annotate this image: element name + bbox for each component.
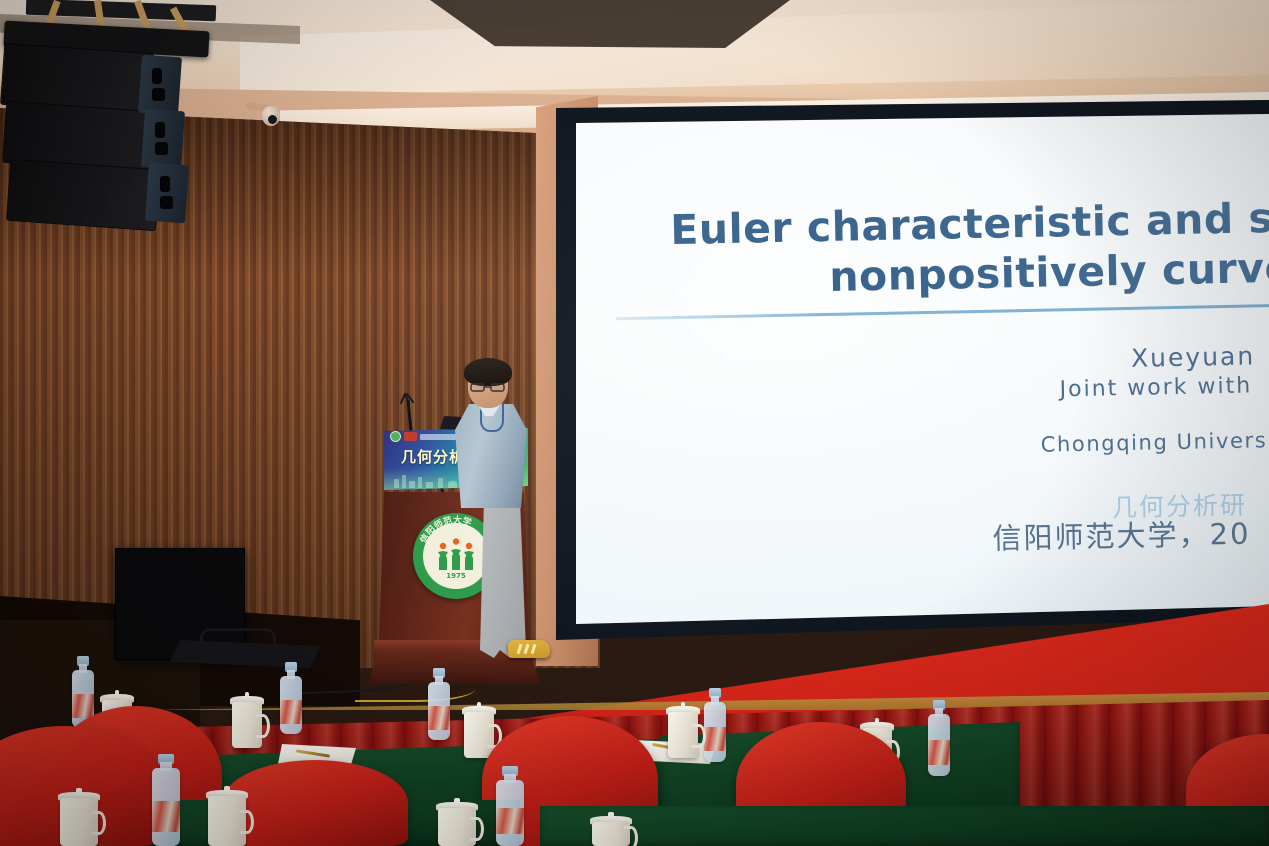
conference-hall-photo: Euler characteristic and sim nonpositive… xyxy=(0,0,1269,846)
speaker-port xyxy=(160,176,170,192)
slide-joint-work: Joint work with xyxy=(1059,373,1252,402)
water-bottle xyxy=(704,688,726,762)
emblem-figures-icon xyxy=(436,538,476,570)
slide-author: Xueyuan xyxy=(1131,341,1256,372)
table-row xyxy=(540,806,1269,846)
mug xyxy=(208,786,246,846)
line-array-cabinet-side xyxy=(138,55,182,116)
slide-place-date-cn: 信阳师范大学，20 xyxy=(992,511,1251,558)
projection-screen: Euler characteristic and sim nonpositive… xyxy=(576,114,1269,624)
water-bottle xyxy=(928,700,950,776)
university-logo-icon xyxy=(390,431,401,442)
mug xyxy=(464,702,494,758)
glasses-icon xyxy=(468,379,508,388)
slide-title-line2: nonpositively curve xyxy=(829,244,1269,301)
anniversary-logo-icon xyxy=(404,432,417,441)
speaker-port xyxy=(155,142,168,155)
speaker-port xyxy=(155,122,165,138)
speaker-port xyxy=(152,68,162,84)
mug xyxy=(592,812,630,846)
line-array-cabinet-side xyxy=(141,109,185,170)
emblem-year: 1975 xyxy=(423,572,489,580)
mug xyxy=(438,798,476,846)
speaker-legs xyxy=(480,500,526,660)
mug xyxy=(668,702,698,758)
speaker-shoe xyxy=(508,640,550,658)
water-bottle xyxy=(280,662,302,734)
camera-lens-icon xyxy=(268,115,277,124)
stage-monitor-handle xyxy=(200,628,276,647)
line-array-cabinet xyxy=(6,159,160,231)
banner-logo-text xyxy=(420,434,460,440)
chair xyxy=(222,760,408,846)
slide-affiliation: Chongqing University xyxy=(1040,428,1269,457)
line-array-cabinet-side xyxy=(145,163,189,224)
water-bottle xyxy=(428,668,450,740)
mug xyxy=(232,692,262,748)
speaker-port xyxy=(160,196,173,209)
presentation-slide: Euler characteristic and sim nonpositive… xyxy=(576,114,1269,624)
water-bottle xyxy=(496,766,524,846)
banner-logos xyxy=(390,431,460,442)
slide-divider-rule xyxy=(616,303,1269,320)
mug xyxy=(60,788,98,846)
speaker-port xyxy=(152,88,165,101)
water-bottle xyxy=(152,754,180,846)
